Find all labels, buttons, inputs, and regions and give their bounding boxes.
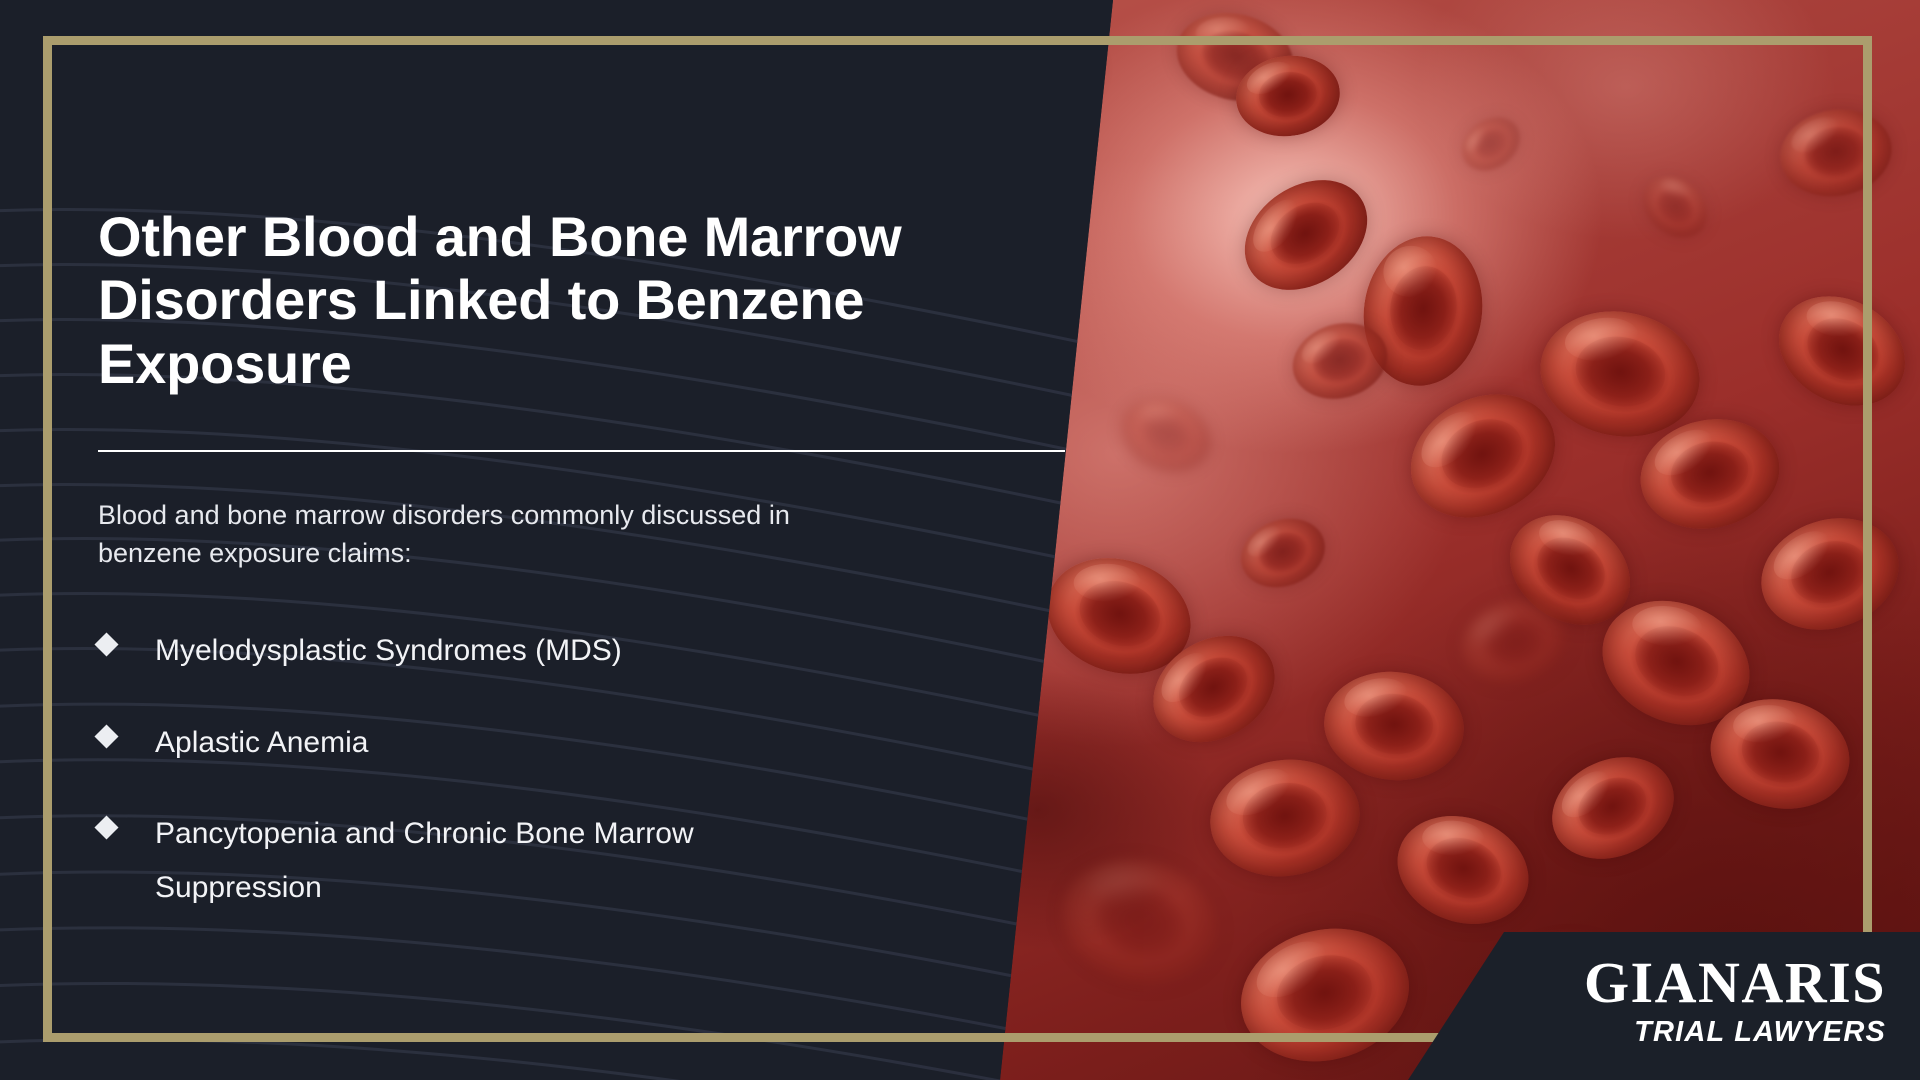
red-blood-cell xyxy=(1700,687,1859,822)
red-blood-cell xyxy=(1630,407,1789,542)
red-blood-cell xyxy=(1110,385,1222,484)
slide-subtitle: Blood and bone marrow disorders commonly… xyxy=(98,496,898,573)
diamond-bullet-icon xyxy=(94,724,118,748)
list-item-label: Pancytopenia and Chronic Bone Marrow Sup… xyxy=(155,807,795,914)
red-blood-cell xyxy=(1390,371,1576,541)
logo-firm-name: GIANARIS xyxy=(1584,954,1886,1012)
red-blood-cell xyxy=(1231,507,1334,598)
red-blood-cell xyxy=(1354,229,1492,394)
logo-tagline: TRIAL LAWYERS xyxy=(1584,1018,1886,1047)
diamond-bullet-icon xyxy=(94,816,118,840)
red-blood-cell xyxy=(1382,798,1543,942)
red-blood-cell xyxy=(1134,615,1294,764)
page-title: Other Blood and Bone Marrow Disorders Li… xyxy=(98,205,998,395)
logo-text-group: GIANARIS TRIAL LAWYERS xyxy=(1584,954,1886,1047)
red-blood-cell xyxy=(1203,750,1368,886)
red-blood-cell xyxy=(1231,49,1345,143)
list-item-label: Myelodysplastic Syndromes (MDS) xyxy=(155,624,622,677)
red-blood-cell xyxy=(1451,588,1578,696)
red-blood-cell xyxy=(1747,501,1914,647)
list-item: Aplastic Anemia xyxy=(98,716,1098,769)
red-blood-cell xyxy=(1452,107,1530,182)
title-divider xyxy=(98,450,1065,452)
list-item-label: Aplastic Anemia xyxy=(155,716,368,769)
red-blood-cell xyxy=(1583,578,1770,748)
red-blood-cell xyxy=(1631,164,1719,250)
red-blood-cell xyxy=(1773,101,1898,205)
red-blood-cell xyxy=(1284,312,1397,410)
slide-canvas: Other Blood and Bone Marrow Disorders Li… xyxy=(0,0,1920,1080)
slide-content: Other Blood and Bone Marrow Disorders Li… xyxy=(98,205,1098,952)
list-item: Pancytopenia and Chronic Bone Marrow Sup… xyxy=(98,807,1098,914)
red-blood-cell xyxy=(1224,157,1388,312)
disorders-list: Myelodysplastic Syndromes (MDS) Aplastic… xyxy=(98,624,1098,914)
red-blood-cell xyxy=(1530,299,1709,449)
red-blood-cell xyxy=(1167,1,1302,113)
red-blood-cell xyxy=(1489,493,1651,647)
red-blood-cell xyxy=(1319,665,1470,787)
diamond-bullet-icon xyxy=(94,633,118,657)
red-blood-cell xyxy=(1227,911,1423,1078)
list-item: Myelodysplastic Syndromes (MDS) xyxy=(98,624,1098,677)
red-blood-cell xyxy=(1760,275,1920,427)
red-blood-cell xyxy=(1536,739,1690,878)
